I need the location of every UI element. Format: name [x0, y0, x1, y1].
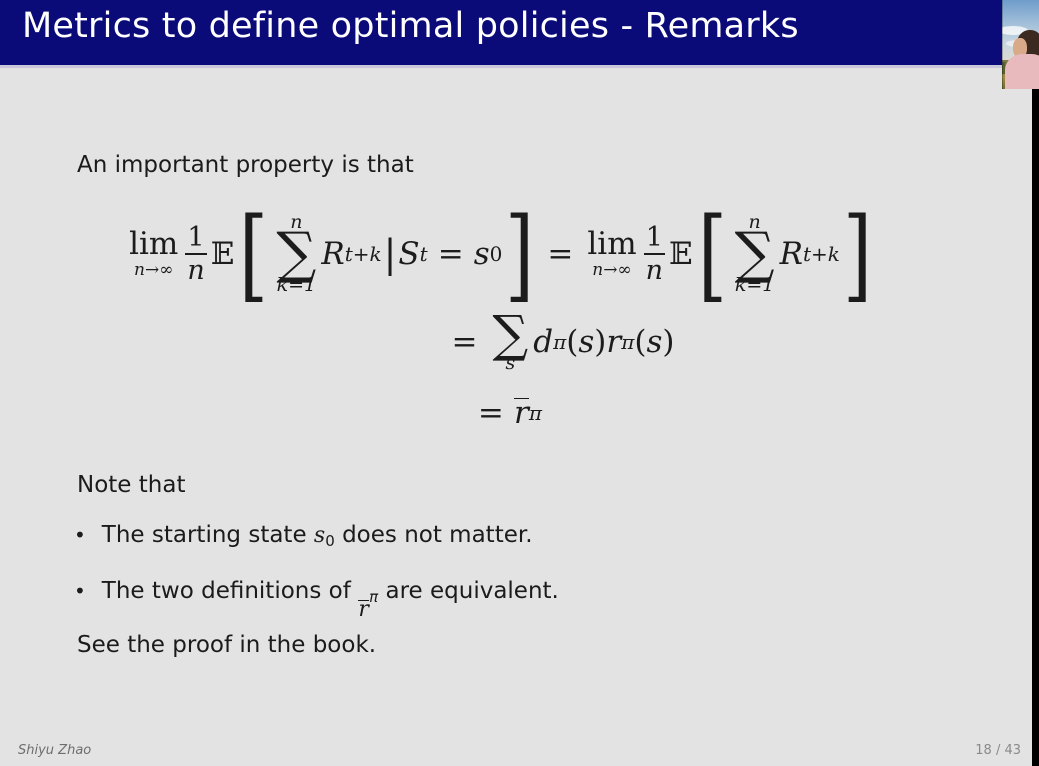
- bullet-text-after: are equivalent.: [385, 578, 558, 604]
- state-arg-2: s: [646, 324, 662, 360]
- expectation-symbol-rhs: 𝔼: [669, 236, 693, 272]
- list-item: • The starting state s0 does not matter.: [74, 522, 934, 550]
- reward-term-lhs: R: [321, 236, 344, 272]
- summation-rhs: n ∑ k=1: [735, 213, 775, 296]
- equation-line-3: = r π: [0, 382, 1000, 444]
- right-edge-bar: [1032, 65, 1039, 766]
- equation-block: lim n→∞ 1 n 𝔼 [ n ∑ k=1 Rt+k | St = s0 ]…: [0, 206, 1000, 444]
- paren-close-2: ): [662, 324, 674, 360]
- equals-main: =: [547, 236, 573, 272]
- list-item: • The two definitions of r π are equival…: [74, 578, 934, 620]
- start-state-symbol: s: [474, 236, 490, 272]
- conditional-bar: |: [384, 232, 397, 276]
- reward-subscript-rhs: t+k: [803, 242, 840, 266]
- paren-open-2: (: [634, 324, 646, 360]
- presentation-slide: Metrics to define optimal policies - Rem…: [0, 0, 1039, 766]
- bullet-marker-icon: •: [74, 581, 86, 601]
- bullet-text-after: does not matter.: [342, 522, 532, 548]
- footer-author: Shiyu Zhao: [18, 743, 91, 758]
- paren-open-1: (: [566, 324, 578, 360]
- average-reward-symbol: r: [514, 398, 529, 428]
- paren-close-1: ): [594, 324, 606, 360]
- equation-line-1: lim n→∞ 1 n 𝔼 [ n ∑ k=1 Rt+k | St = s0 ]…: [0, 206, 1000, 302]
- bullet-text: The two definitions of r π are equivalen…: [102, 578, 559, 620]
- fraction-one-over-n-rhs: 1 n: [644, 224, 665, 284]
- footer-page-number: 18 / 43: [975, 743, 1021, 758]
- average-reward-subscript: π: [529, 401, 542, 425]
- reward-function-symbol: r: [606, 324, 621, 360]
- title-bar-underline: [0, 65, 1039, 68]
- equals-line2: =: [452, 324, 478, 360]
- closing-text: See the proof in the book.: [77, 632, 376, 658]
- limit-operator-lhs: lim n→∞: [129, 229, 178, 280]
- bullet-list: • The starting state s0 does not matter.…: [74, 522, 934, 648]
- photo-left-edge: [1002, 0, 1003, 89]
- state-distribution-subscript: π: [553, 330, 566, 354]
- state-distribution-symbol: d: [533, 324, 553, 360]
- summation-lhs: n ∑ k=1: [276, 213, 316, 296]
- reward-term-rhs: R: [780, 236, 803, 272]
- bullet-text: The starting state s0 does not matter.: [102, 522, 533, 550]
- bracket-close-rhs: ]: [843, 224, 872, 286]
- corner-photo-image: [1002, 0, 1039, 89]
- bracket-open-rhs: [: [698, 224, 727, 286]
- equation-line-2: = ∑ s dπ(s)rπ(s): [0, 302, 1000, 382]
- reward-function-subscript: π: [621, 330, 634, 354]
- inline-math-symbol: s: [314, 523, 325, 548]
- inline-average-reward-symbol: r: [358, 600, 369, 620]
- reward-subscript-lhs: t+k: [345, 242, 382, 266]
- inline-math-subscript: π: [369, 588, 378, 606]
- bullet-text-before: The starting state: [102, 522, 307, 548]
- state-arg-1: s: [578, 324, 594, 360]
- limit-operator-rhs: lim n→∞: [587, 229, 636, 280]
- bullet-text-before: The two definitions of: [102, 578, 351, 604]
- summation-over-states: ∑ s: [493, 311, 529, 373]
- expectation-symbol-lhs: 𝔼: [211, 236, 235, 272]
- photo-person-body: [1005, 54, 1039, 89]
- intro-text: An important property is that: [77, 152, 414, 178]
- state-subscript: t: [420, 242, 428, 266]
- fraction-one-over-n-lhs: 1 n: [185, 224, 206, 284]
- page-title: Metrics to define optimal policies - Rem…: [22, 6, 799, 46]
- state-symbol: S: [398, 236, 419, 272]
- equals-line3: =: [478, 395, 504, 431]
- note-heading: Note that: [77, 472, 185, 498]
- bracket-close-lhs: ]: [505, 224, 534, 286]
- start-state-subscript: 0: [490, 242, 503, 266]
- inline-math-subscript: 0: [325, 532, 335, 550]
- bullet-marker-icon: •: [74, 525, 86, 545]
- equals-inner: =: [438, 236, 464, 272]
- bracket-open-lhs: [: [239, 224, 268, 286]
